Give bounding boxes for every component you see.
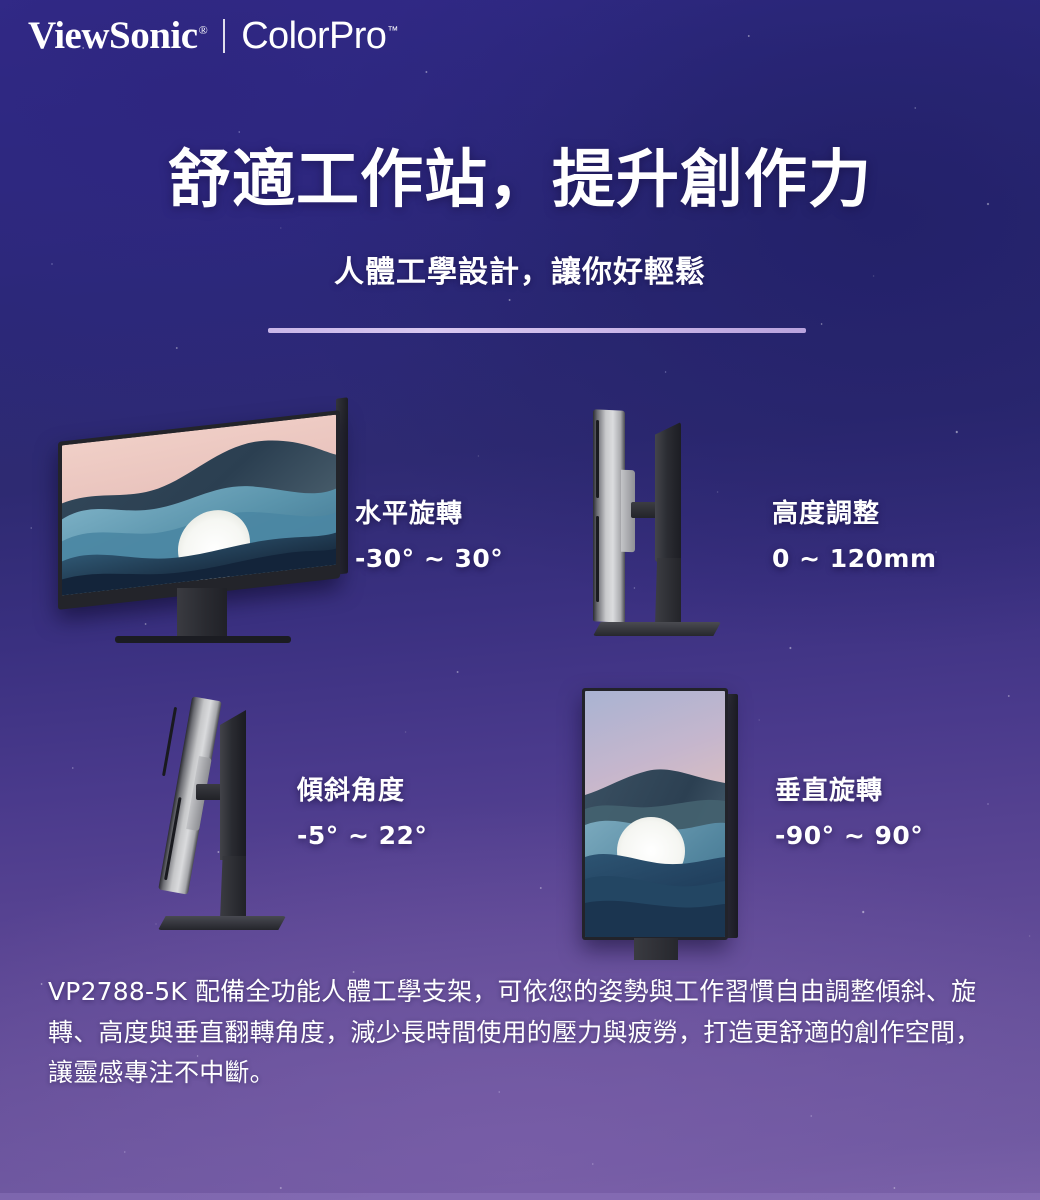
stand-base-plate <box>593 622 721 636</box>
stand-pillar <box>220 710 246 860</box>
viewsonic-logo: ViewSonic® <box>28 16 207 55</box>
page-subheadline: 人體工學設計，讓你好輕鬆 <box>0 256 1040 291</box>
monitor-bezel <box>58 410 340 610</box>
feature-value-pivot: -90° ~ 90° <box>775 820 923 851</box>
feature-value-tilt: -5° ~ 22° <box>297 820 427 851</box>
monitor-landscape-front <box>58 392 358 662</box>
monitor-side-view-height <box>565 398 735 648</box>
feature-label-height: 高度調整 0 ~ 120mm <box>772 498 937 574</box>
promo-page: ViewSonic® ColorPro™ 舒適工作站，提升創作力 人體工學設計，… <box>0 0 1040 1200</box>
wallpaper-landscape <box>62 415 336 596</box>
registered-trademark-icon: ® <box>199 23 208 37</box>
feature-value-swivel: -30° ~ 30° <box>355 543 503 574</box>
stand-pillar-lower <box>655 558 681 626</box>
trademark-icon: ™ <box>387 25 397 37</box>
feature-value-height: 0 ~ 120mm <box>772 543 937 574</box>
monitor-vent-upper <box>162 707 177 776</box>
monitor-stand-neck <box>177 588 227 640</box>
body-paragraph: VP2788-5K 配備全功能人體工學支架，可依您的姿勢與工作習慣自由調整傾斜、… <box>48 972 1000 1094</box>
feature-label-pivot: 垂直旋轉 -90° ~ 90° <box>775 775 923 851</box>
feature-title-pivot: 垂直旋轉 <box>775 775 923 808</box>
monitor-portrait-pivot <box>580 688 760 958</box>
feature-label-tilt: 傾斜角度 -5° ~ 22° <box>297 775 427 851</box>
brand-logo-bar: ViewSonic® ColorPro™ <box>28 16 398 55</box>
colorpro-logo: ColorPro™ <box>241 17 398 55</box>
stand-base-plate <box>158 916 286 930</box>
monitor-bezel <box>582 688 728 940</box>
feature-label-swivel: 水平旋轉 -30° ~ 30° <box>355 498 503 574</box>
monitor-vent-upper <box>596 420 599 498</box>
monitor-stand-base <box>115 636 291 643</box>
logo-divider <box>223 19 225 53</box>
viewsonic-wordmark: ViewSonic <box>28 14 198 57</box>
bottom-edge-band <box>0 1193 1040 1200</box>
header-divider-rule <box>268 328 806 333</box>
colorpro-wordmark: ColorPro <box>241 15 386 57</box>
feature-title-swivel: 水平旋轉 <box>355 498 503 531</box>
monitor-vent-lower <box>596 516 599 602</box>
stand-pillar-lower <box>220 856 246 920</box>
feature-title-tilt: 傾斜角度 <box>297 775 427 808</box>
monitor-stand-neck <box>634 938 678 960</box>
wallpaper-portrait <box>585 691 725 937</box>
page-headline: 舒適工作站，提升創作力 <box>0 146 1040 214</box>
stand-pillar <box>655 422 681 562</box>
feature-title-height: 高度調整 <box>772 498 937 531</box>
